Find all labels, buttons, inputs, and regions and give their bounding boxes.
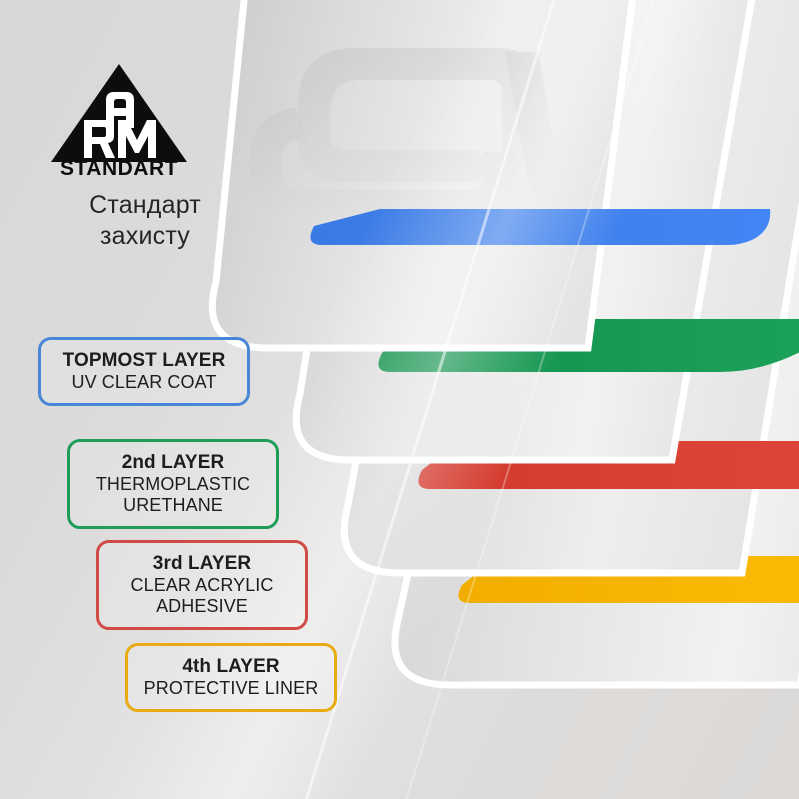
layer-label-subtitle: PROTECTIVE LINER — [142, 678, 320, 699]
tagline: Стандарт захисту — [0, 190, 290, 252]
left-info-panel: STANDART Стандарт захисту TOPMOST LAYER … — [0, 0, 340, 799]
layer-label-subtitle: CLEAR ACRYLIC — [113, 575, 291, 596]
layer-label-title: TOPMOST LAYER — [55, 349, 233, 372]
layer-label-title: 4th LAYER — [142, 655, 320, 678]
layer-label-subtitle-2: ADHESIVE — [113, 596, 291, 617]
layer-label-third[interactable]: 3rd LAYER CLEAR ACRYLIC ADHESIVE — [96, 540, 308, 630]
layer-label-subtitle: UV CLEAR COAT — [55, 372, 233, 393]
layer-label-title: 3rd LAYER — [113, 552, 291, 575]
layer-label-subtitle-2: URETHANE — [84, 495, 262, 516]
layer-label-subtitle: THERMOPLASTIC — [84, 474, 262, 495]
tagline-line-2: захисту — [0, 221, 290, 252]
layer-label-fourth[interactable]: 4th LAYER PROTECTIVE LINER — [125, 643, 337, 712]
layer-label-title: 2nd LAYER — [84, 451, 262, 474]
layer-label-topmost[interactable]: TOPMOST LAYER UV CLEAR COAT — [38, 337, 250, 406]
arm-standart-logo: STANDART — [44, 58, 194, 178]
infographic-canvas: STANDART Стандарт захисту TOPMOST LAYER … — [0, 0, 799, 799]
svg-text:STANDART: STANDART — [60, 157, 178, 178]
tagline-line-1: Стандарт — [0, 190, 290, 221]
layer-label-second[interactable]: 2nd LAYER THERMOPLASTIC URETHANE — [67, 439, 279, 529]
